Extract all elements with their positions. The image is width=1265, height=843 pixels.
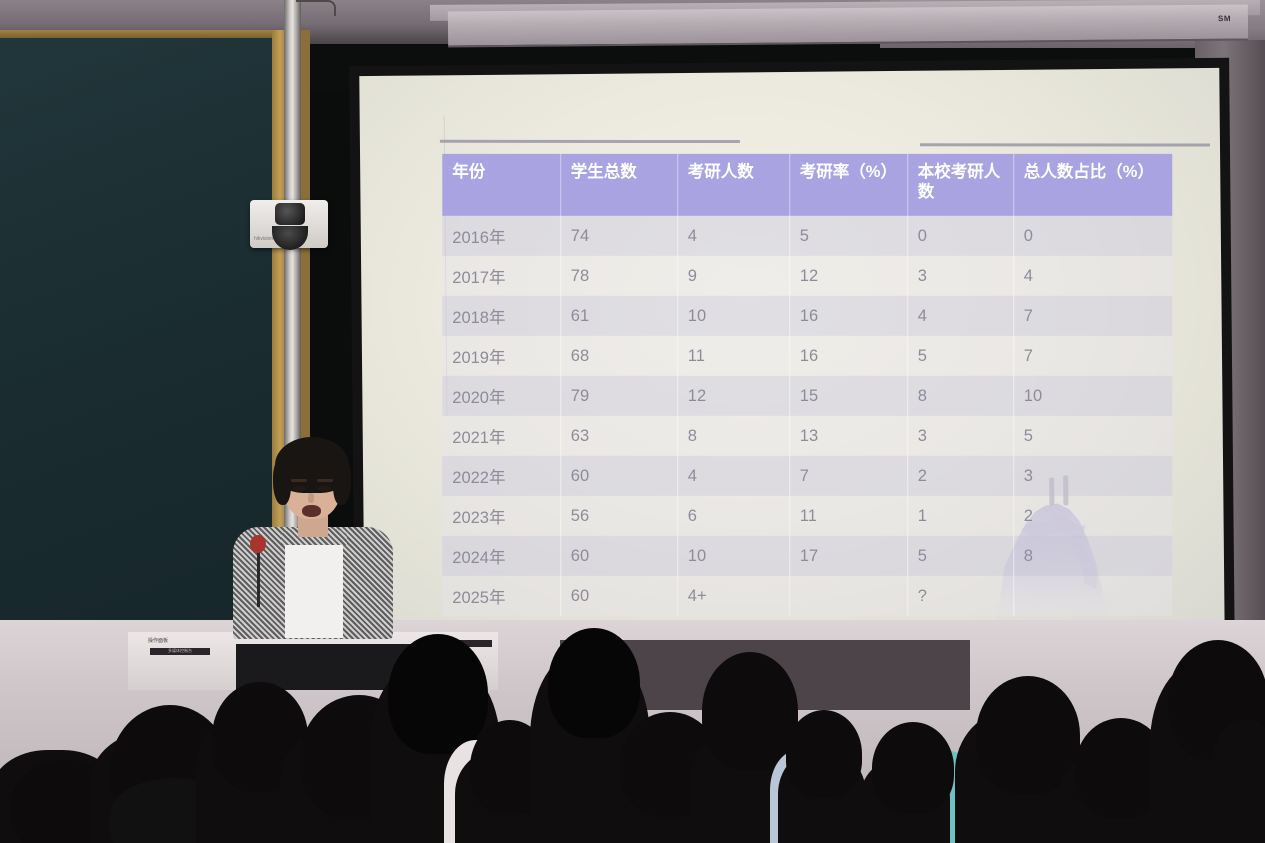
cell-share: 4 <box>1013 256 1172 296</box>
presenter-mouth <box>302 505 321 517</box>
cell-own-school: 2 <box>907 456 1013 496</box>
table-row: 2016年744500 <box>442 216 1172 256</box>
audience-head <box>786 710 862 798</box>
presenter-brow-left <box>291 479 307 482</box>
cell-share: 5 <box>1013 416 1172 456</box>
cell-exam-rate: 17 <box>789 536 907 576</box>
cell-own-school: 5 <box>907 536 1013 576</box>
table-row: 2020年791215810 <box>442 376 1172 416</box>
camera-brand-label: hikvision <box>254 236 273 242</box>
cell-exam-count: 12 <box>677 376 789 416</box>
presenter-eye-right <box>318 486 331 491</box>
cell-total: 63 <box>560 416 677 456</box>
blackboard-rail-top <box>0 30 290 38</box>
cell-exam-rate: 13 <box>789 416 907 456</box>
cell-share: 3 <box>1013 456 1172 496</box>
cell-total: 78 <box>560 256 677 296</box>
table-body: 2016年7445002017年78912342018年611016472019… <box>442 216 1172 616</box>
cell-share: 8 <box>1013 536 1172 576</box>
cell-total: 60 <box>560 536 677 576</box>
presenter-nose <box>308 493 314 503</box>
microphone-icon <box>250 535 266 553</box>
cell-own-school: 8 <box>907 376 1013 416</box>
audience-head <box>872 722 954 814</box>
cell-exam-count: 11 <box>677 336 789 376</box>
screen-roller-casing <box>448 5 1248 48</box>
cell-total: 68 <box>560 336 677 376</box>
table-row: 2019年68111657 <box>442 336 1172 376</box>
cell-share: 10 <box>1013 376 1172 416</box>
cell-exam-count: 4 <box>677 216 789 256</box>
microphone-stand <box>257 547 260 607</box>
table-row: 2017年7891234 <box>442 256 1172 296</box>
col-header-share: 总人数占比（%） <box>1013 154 1172 216</box>
camera-lens-icon <box>275 203 305 225</box>
cell-share: 7 <box>1013 296 1172 336</box>
cell-year: 2017年 <box>442 256 560 296</box>
cell-own-school: 4 <box>907 296 1013 336</box>
presenter-hair-right <box>333 459 351 505</box>
cell-own-school: 5 <box>907 336 1013 376</box>
audience-head <box>388 634 488 754</box>
cell-year: 2021年 <box>442 416 560 456</box>
cell-exam-rate: 11 <box>789 496 907 536</box>
cell-exam-count: 4 <box>677 456 789 496</box>
cell-year: 2019年 <box>442 336 560 376</box>
cell-exam-count: 10 <box>677 296 789 336</box>
cell-exam-rate: 5 <box>789 216 907 256</box>
cell-total: 79 <box>560 376 677 416</box>
col-header-year: 年份 <box>442 154 560 216</box>
projector-screen-logo: SM <box>1218 14 1252 28</box>
cell-year: 2020年 <box>442 376 560 416</box>
cell-year: 2024年 <box>442 536 560 576</box>
col-header-exam-rate: 考研率（%） <box>789 154 907 216</box>
cell-exam-rate: 15 <box>789 376 907 416</box>
audience <box>0 600 1265 843</box>
projection-screen: 年份 学生总数 考研人数 考研率（%） 本校考研人数 总人数占比（%） 2016… <box>359 68 1224 646</box>
cell-total: 56 <box>560 496 677 536</box>
cell-total: 74 <box>560 216 677 256</box>
table-row: 2018年61101647 <box>442 296 1172 336</box>
cell-share: 2 <box>1013 496 1172 536</box>
decorative-rule-right <box>920 143 1210 146</box>
audience-body <box>1210 720 1265 843</box>
cell-year: 2016年 <box>442 216 560 256</box>
col-header-exam-count: 考研人数 <box>677 154 789 216</box>
cell-year: 2023年 <box>442 496 560 536</box>
cell-share: 0 <box>1013 216 1172 256</box>
cell-own-school: 1 <box>907 496 1013 536</box>
cell-own-school: 3 <box>907 416 1013 456</box>
cell-exam-count: 10 <box>677 536 789 576</box>
col-header-total: 学生总数 <box>560 154 677 216</box>
cell-exam-rate: 12 <box>789 256 907 296</box>
table-row: 2023年5661112 <box>442 496 1172 536</box>
cell-year: 2022年 <box>442 456 560 496</box>
statistics-table: 年份 学生总数 考研人数 考研率（%） 本校考研人数 总人数占比（%） 2016… <box>442 154 1172 616</box>
cable-icon <box>296 0 336 16</box>
table-header-row: 年份 学生总数 考研人数 考研率（%） 本校考研人数 总人数占比（%） <box>442 154 1172 216</box>
cell-own-school: 0 <box>907 216 1013 256</box>
cell-exam-count: 6 <box>677 496 789 536</box>
cell-total: 60 <box>560 456 677 496</box>
table-row: 2024年60101758 <box>442 536 1172 576</box>
cell-year: 2018年 <box>442 296 560 336</box>
decorative-rule-left <box>440 140 740 143</box>
presenter-hair-left <box>273 459 291 505</box>
cell-total: 61 <box>560 296 677 336</box>
slide-table-container: 年份 学生总数 考研人数 考研率（%） 本校考研人数 总人数占比（%） 2016… <box>442 154 1172 616</box>
audience-head <box>702 652 798 770</box>
lecture-hall-scene: hikvision SM <box>0 0 1265 843</box>
table-row: 2022年604723 <box>442 456 1172 496</box>
cell-own-school: 3 <box>907 256 1013 296</box>
cell-exam-rate: 7 <box>789 456 907 496</box>
cell-exam-rate: 16 <box>789 296 907 336</box>
presenter-brow-right <box>317 479 333 482</box>
cell-exam-count: 8 <box>677 416 789 456</box>
col-header-own-school: 本校考研人数 <box>907 154 1013 216</box>
cell-exam-count: 9 <box>677 256 789 296</box>
cell-exam-rate: 16 <box>789 336 907 376</box>
table-row: 2021年6381335 <box>442 416 1172 456</box>
cell-share: 7 <box>1013 336 1172 376</box>
presenter-eye-left <box>293 486 306 491</box>
audience-head <box>548 628 640 738</box>
